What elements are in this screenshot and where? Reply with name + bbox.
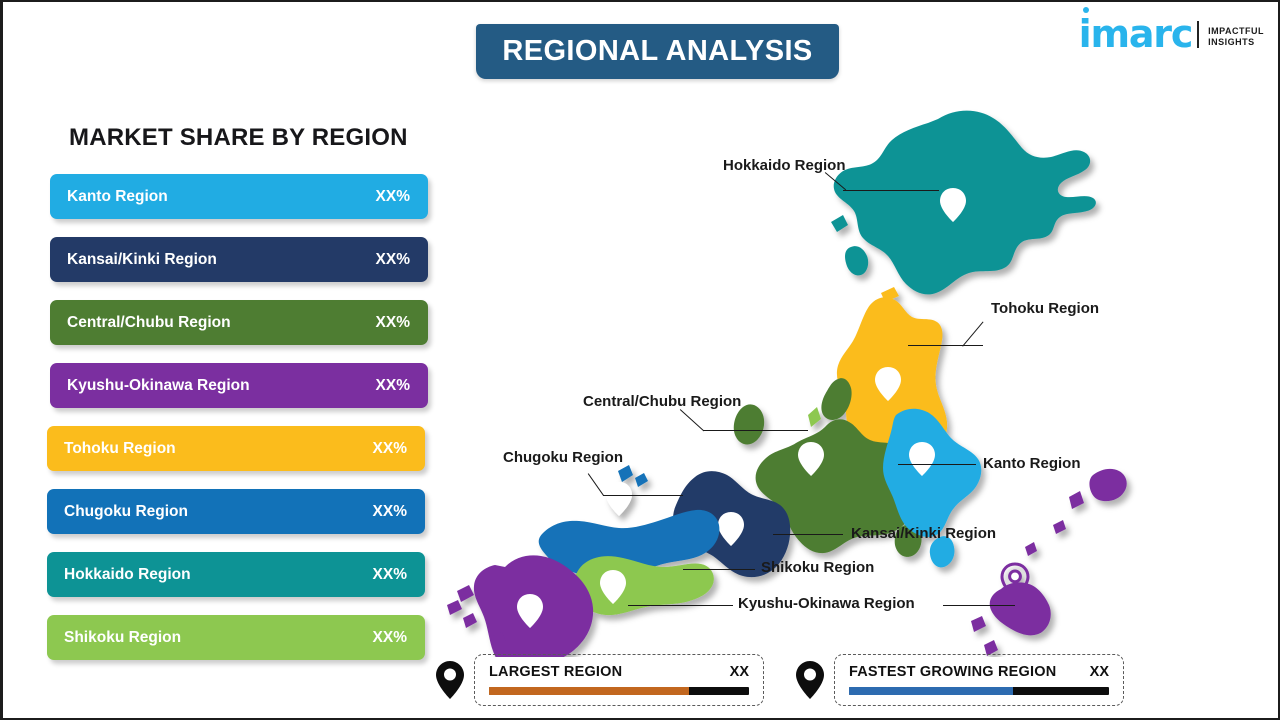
largest-region-box: LARGEST REGION XX [474, 654, 764, 706]
map-pin-icon [795, 660, 825, 700]
map-leader-line-kyushu-okinawa-elbow [943, 605, 1015, 606]
page-title-banner: REGIONAL ANALYSIS [476, 24, 839, 79]
fastest-region-progress-track [849, 687, 1109, 695]
legend-bar[interactable]: Hokkaido RegionXX% [47, 552, 425, 597]
legend-bar-label: Hokkaido Region [64, 566, 191, 584]
slide-root: REGIONAL ANALYSIS imarc IMPACTFUL INSIGH… [0, 0, 1280, 720]
map-label-kansai-kinki: Kansai/Kinki Region [851, 525, 996, 542]
legend-bar-value: XX% [373, 503, 407, 521]
map-leader-line-kyushu-okinawa [628, 605, 733, 606]
page-title: REGIONAL ANALYSIS [502, 35, 812, 68]
legend-bar-value: XX% [373, 629, 407, 647]
legend-bar[interactable]: Tohoku RegionXX% [47, 426, 425, 471]
map-label-hokkaido: Hokkaido Region [723, 157, 846, 174]
map-label-chugoku: Chugoku Region [503, 449, 623, 466]
legend-bar-label: Central/Chubu Region [67, 314, 231, 332]
imarc-logo: imarc IMPACTFUL INSIGHTS [1079, 16, 1264, 52]
logo-divider [1197, 21, 1199, 48]
fastest-region-value: XX [1090, 664, 1109, 680]
map-label-kyushu-okinawa: Kyushu-Okinawa Region [738, 595, 915, 612]
legend-bar[interactable]: Chugoku RegionXX% [47, 489, 425, 534]
map-label-central-chubu: Central/Chubu Region [583, 393, 741, 410]
legend-bar-value: XX% [376, 251, 410, 269]
japan-map: Hokkaido RegionTohoku RegionCentral/Chub… [433, 97, 1153, 657]
map-leader-line-central-chubu [703, 430, 808, 431]
legend-bar[interactable]: Central/Chubu RegionXX% [50, 300, 428, 345]
map-label-shikoku: Shikoku Region [761, 559, 874, 576]
legend-bar[interactable]: Kansai/Kinki RegionXX% [50, 237, 428, 282]
logo-tagline-line2: INSIGHTS [1208, 37, 1264, 48]
map-leader-line-kanto [898, 464, 976, 465]
map-label-kanto: Kanto Region [983, 455, 1081, 472]
map-leader-line-shikoku [683, 569, 755, 570]
fastest-region-label: FASTEST GROWING REGION [849, 664, 1056, 680]
fastest-region-callout: FASTEST GROWING REGION XX [795, 654, 1124, 706]
largest-region-value: XX [730, 664, 749, 680]
legend-bar-value: XX% [376, 188, 410, 206]
map-label-tohoku: Tohoku Region [991, 300, 1099, 317]
fastest-region-box: FASTEST GROWING REGION XX [834, 654, 1124, 706]
legend-bar-label: Chugoku Region [64, 503, 188, 521]
legend-bar-label: Kanto Region [67, 188, 168, 206]
map-pin-icon [435, 660, 465, 700]
legend-bar-label: Kyushu-Okinawa Region [67, 377, 250, 395]
largest-region-callout: LARGEST REGION XX [435, 654, 764, 706]
logo-dot-icon [1083, 7, 1089, 13]
largest-region-label: LARGEST REGION [489, 664, 622, 680]
logo-wordmark-text: imarc [1079, 12, 1193, 56]
legend-bar-value: XX% [373, 440, 407, 458]
legend-bar[interactable]: Shikoku RegionXX% [47, 615, 425, 660]
logo-tagline: IMPACTFUL INSIGHTS [1208, 26, 1264, 52]
largest-region-progress-fill [489, 687, 689, 695]
legend-bar-label: Shikoku Region [64, 629, 181, 647]
largest-region-progress-track [489, 687, 749, 695]
legend-bar-label: Kansai/Kinki Region [67, 251, 217, 269]
legend-bar[interactable]: Kanto RegionXX% [50, 174, 428, 219]
map-leader-line-tohoku [908, 345, 983, 346]
map-leader-line-kansai-kinki [773, 534, 843, 535]
logo-wordmark: imarc [1079, 16, 1193, 52]
panel-title: MARKET SHARE BY REGION [69, 124, 408, 152]
map-leader-line-chugoku [603, 495, 683, 496]
region-legend-list: Kanto RegionXX%Kansai/Kinki RegionXX%Cen… [3, 174, 428, 678]
fastest-region-progress-fill [849, 687, 1013, 695]
logo-tagline-line1: IMPACTFUL [1208, 26, 1264, 37]
legend-bar-value: XX% [376, 314, 410, 332]
legend-bar-value: XX% [373, 566, 407, 584]
legend-bar-value: XX% [376, 377, 410, 395]
legend-bar[interactable]: Kyushu-Okinawa RegionXX% [50, 363, 428, 408]
map-leader-line-hokkaido [843, 190, 939, 191]
map-region-okinawa[interactable] [971, 469, 1127, 656]
legend-bar-label: Tohoku Region [64, 440, 176, 458]
map-region-hokkaido[interactable] [831, 111, 1096, 295]
